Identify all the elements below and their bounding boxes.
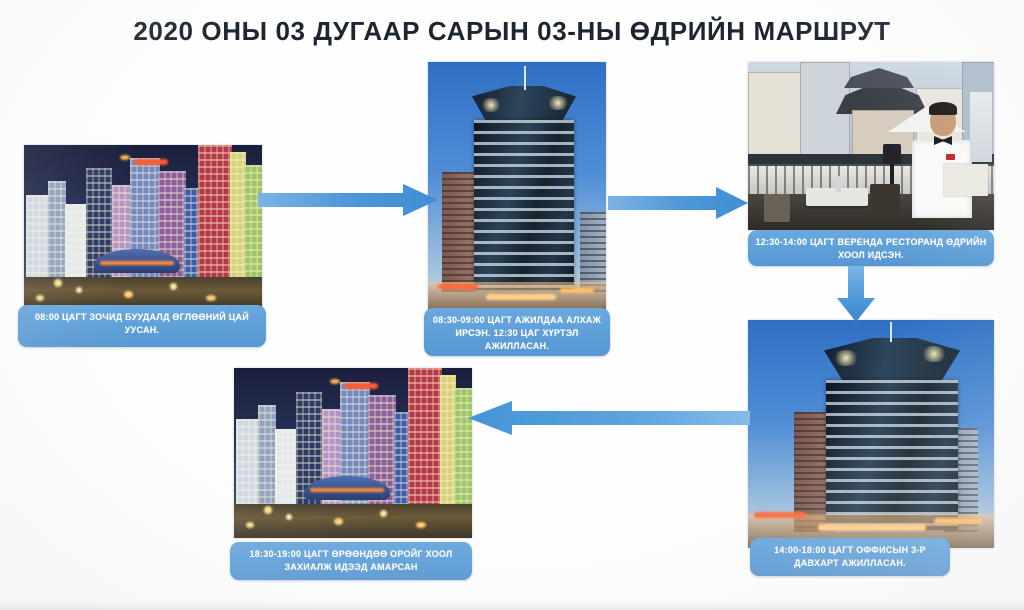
photo-step-4 [748,320,994,548]
office-tower-scene-4 [748,320,994,548]
arrow-left-icon [468,400,750,436]
night-city-scene-5 [234,368,472,538]
photo-step-2 [428,62,606,310]
arrow-right-icon [258,183,438,217]
arrow-down-icon [836,266,876,322]
photo-step-5 [234,368,472,538]
scan-bottom-edge [0,600,1024,610]
photo-step-3 [748,62,994,230]
caption-step-4: 14:00-18:00 ЦАГТ ОФФИСЫН 3-Р ДАВХАРТ АЖИ… [750,538,950,576]
arrow-step-2-to-3 [608,186,748,220]
restaurant-terrace-scene [748,62,994,230]
arrow-step-1-to-2 [258,183,438,217]
arrow-step-3-to-4 [836,266,876,322]
caption-step-3: 12:30-14:00 ЦАГТ ВЕРЕНДА РЕСТОРАНД ӨДРИЙ… [748,230,994,266]
page-title: 2020 ОНЫ 03 ДУГААР САРЫН 03-НЫ ӨДРИЙН МА… [0,16,1024,47]
caption-step-1: 08:00 ЦАГТ ЗОЧИД БУУДАЛД ӨГЛӨӨНИЙ ЦАЙ УУ… [18,305,266,347]
caption-step-2: 08:30-09:00 ЦАГТ АЖИЛДАА АЛХАЖ ИРСЭН. 12… [424,308,610,356]
arrow-step-4-to-5 [468,400,750,436]
night-city-scene-1 [24,145,262,310]
photo-step-1 [24,145,262,310]
office-tower-scene-2 [428,62,606,310]
arrow-right-icon [608,186,748,220]
caption-step-5: 18:30-19:00 ЦАГТ ӨРӨӨНДӨӨ ОРОЙГ ХООЛ ЗАХ… [230,542,472,580]
